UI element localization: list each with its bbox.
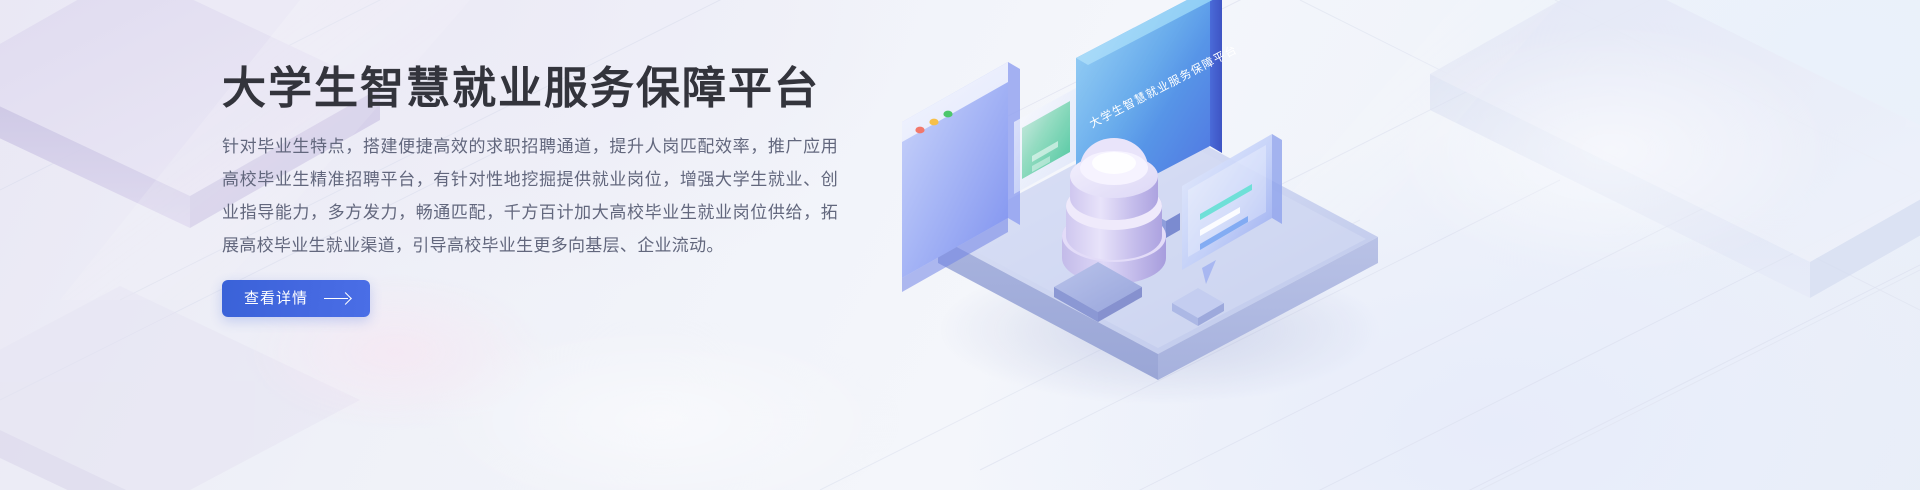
window-dot-red (915, 127, 924, 134)
plateau-right (1430, 0, 1920, 298)
illustration-svg: 大学生智慧就业服务保障平台 (880, 0, 1440, 490)
page-title: 大学生智慧就业服务保障平台 (222, 62, 902, 116)
view-details-button[interactable]: 查看详情 (222, 280, 370, 317)
hero-banner: 大学生智慧就业服务保障平台 针对毕业生特点，搭建便捷高效的求职招聘通道，提升人岗… (0, 0, 1920, 490)
white-glow-bottom (420, 320, 900, 490)
window-dot-green (943, 111, 952, 118)
arrow-right-icon (324, 293, 350, 303)
white-glow-right (1380, 20, 1840, 280)
banner-content: 大学生智慧就业服务保障平台 针对毕业生特点，搭建便捷高效的求职招聘通道，提升人岗… (222, 62, 902, 317)
view-details-label: 查看详情 (244, 291, 308, 306)
hero-illustration: 大学生智慧就业服务保障平台 (880, 0, 1440, 490)
window-dot-yellow (929, 119, 938, 126)
banner-description: 针对毕业生特点，搭建便捷高效的求职招聘通道，提升人岗匹配效率，推广应用高校毕业生… (222, 130, 838, 262)
